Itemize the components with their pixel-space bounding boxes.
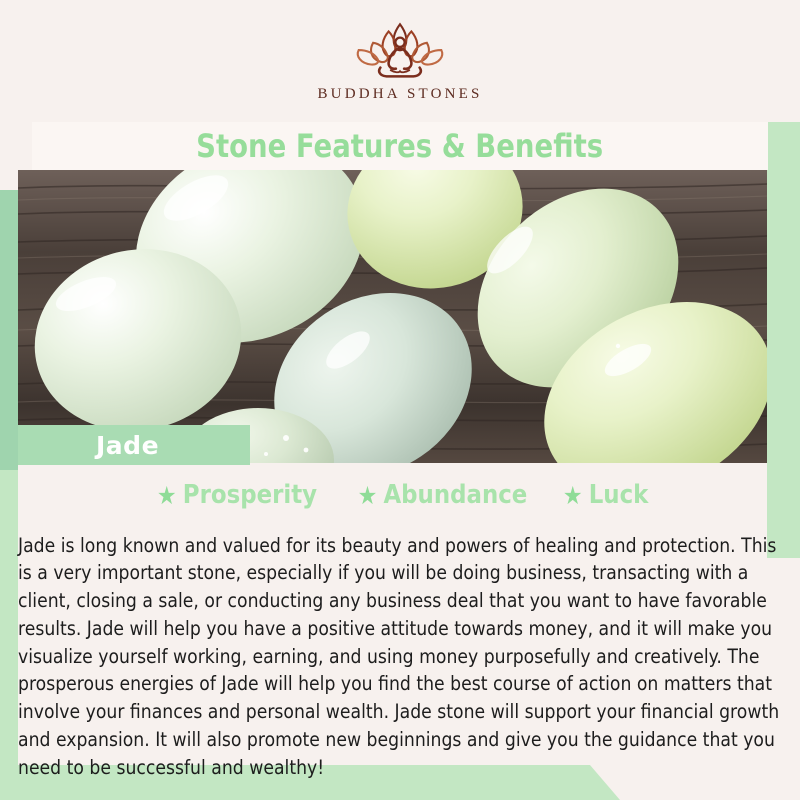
star-icon: ★: [563, 483, 583, 508]
benefit-item-abundance: ★ Abundance: [358, 480, 528, 510]
stone-name-label: Jade: [18, 425, 250, 465]
brand-wordmark: BUDDHA STONES: [317, 86, 482, 103]
brand-header: BUDDHA STONES: [0, 0, 800, 122]
benefits-row: ★ Prosperity ★ Abundance ★ Luck: [0, 478, 800, 512]
stone-description: Jade is long known and valued for its be…: [18, 532, 781, 782]
benefit-label: Luck: [589, 480, 649, 510]
decorative-left-green-block: [0, 190, 18, 470]
title-banner: Stone Features & Benefits: [32, 122, 768, 170]
benefit-label: Prosperity: [183, 480, 317, 510]
page-title: Stone Features & Benefits: [197, 127, 604, 165]
lotus-meditation-icon: [348, 18, 452, 80]
photo-illustration: [18, 170, 767, 463]
benefit-item-luck: ★ Luck: [563, 480, 649, 510]
star-icon: ★: [157, 483, 177, 508]
benefit-item-prosperity: ★ Prosperity: [157, 480, 317, 510]
infographic-card: BUDDHA STONES Stone Features & Benefits: [0, 0, 800, 800]
star-icon: ★: [358, 483, 378, 508]
jade-stones-photo: [18, 170, 767, 463]
stone-name-text: Jade: [96, 431, 159, 460]
benefit-label: Abundance: [383, 480, 527, 510]
